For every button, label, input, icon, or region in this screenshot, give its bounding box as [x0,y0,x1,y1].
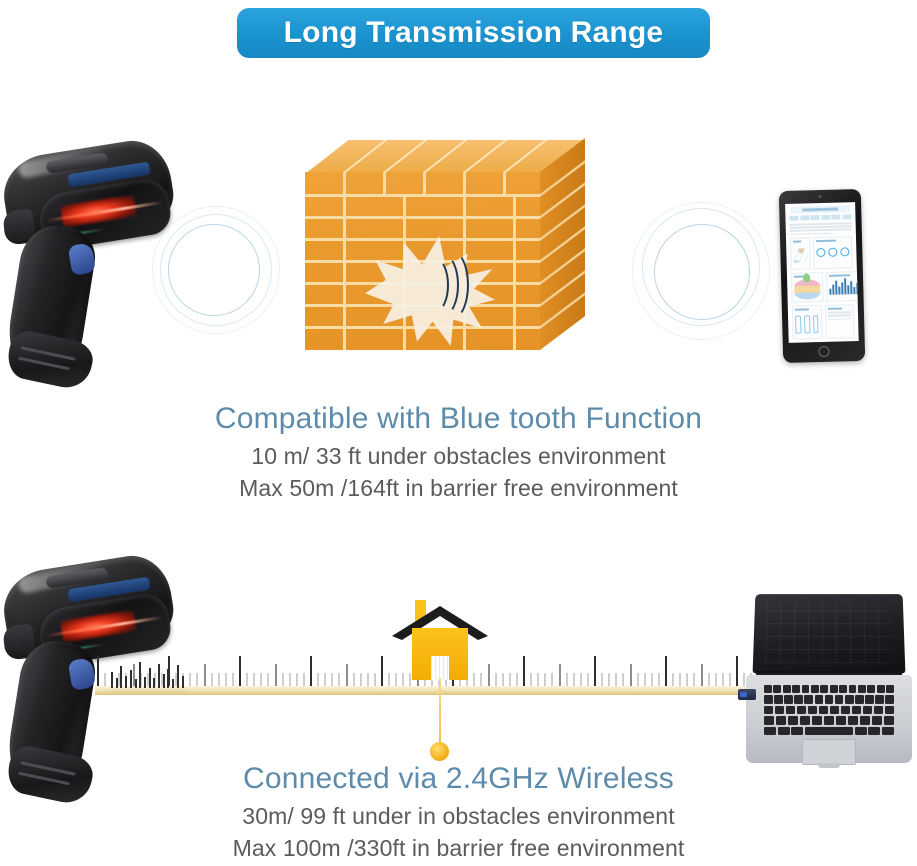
keyboard-row [764,706,894,714]
brick-mortar-col [503,172,506,194]
ruler-minor-tick [353,673,355,686]
ruler-minor-tick [544,673,546,686]
ruler-minor-tick [367,673,369,686]
barcode-bar [116,678,118,688]
barcode-bar [139,662,141,688]
ruler-minor-tick [658,673,660,686]
brick-mortar-col [513,238,516,260]
tablet-nav-item [811,215,820,220]
brick-mortar-col [513,326,516,350]
brick-mortar-col [513,260,516,282]
tablet-nav-item [821,215,830,220]
wireless-line-2: Max 100m /330ft in barrier free environm… [0,833,917,865]
ruler-minor-tick [622,673,624,686]
barcode-bar [158,664,160,688]
ruler-minor-tick [516,673,518,686]
ruler-major-tick [523,656,525,686]
ruler-minor-tick [225,673,227,686]
tablet-screen [785,202,859,343]
brick-mortar-row [305,260,540,263]
barcode-base [110,688,188,692]
ruler-major-tick [594,656,596,686]
bluetooth-text-block: Compatible with Blue tooth Function 10 m… [0,402,917,504]
laptop-icon [746,593,912,773]
ruler-minor-tick [104,673,106,686]
ruler-minor-tick [218,673,220,686]
brick-mortar-col [463,216,466,238]
brick-mortar-col [403,216,406,238]
barcode-bar [120,666,122,688]
barcode-bar [125,676,127,688]
tablet-metric-card [813,236,853,269]
laptop-lid-texture [765,602,893,663]
ruler-minor-tick [196,673,198,686]
brick-mortar-row [305,194,540,197]
barcode-bar [111,672,113,688]
bluetooth-headline: Compatible with Blue tooth Function [0,402,917,435]
barcode-bar [163,674,165,688]
brick-mortar-col [343,238,346,260]
brick-mortar-row [305,238,540,241]
tablet-flow-card [792,305,822,340]
wireless-headline: Connected via 2.4GHz Wireless [0,762,917,795]
ruler-major-tick [239,656,241,686]
ruler-minor-tick [289,673,291,686]
ruler-mid-tick [204,664,206,686]
tablet-card-row [790,236,853,270]
house-door [431,656,449,680]
tablet-card-row [792,304,855,340]
wall-front-face [305,172,540,350]
signal-arc-3 [435,250,469,320]
ruler-minor-tick [296,673,298,686]
page-title: Long Transmission Range [284,16,664,50]
ruler-minor-tick [608,673,610,686]
ruler-minor-tick [573,673,575,686]
house-pointer-dot [430,742,449,761]
ruler-minor-tick [729,673,731,686]
brick-mortar-col [513,194,516,216]
brick-wall-icon [305,140,585,350]
ruler-major-tick [665,656,667,686]
ruler-minor-tick [495,673,497,686]
signal-waves-icon-left [152,206,282,336]
ruler-minor-tick [722,673,724,686]
infographic-canvas: Long Transmission Range [0,0,917,866]
tablet-chart-wave [793,249,807,263]
tablet-flow-diagram [795,312,819,337]
ruler-minor-tick [637,673,639,686]
wall-top-joint [421,140,467,174]
barcode-bar [167,669,169,688]
barcode-bar [130,670,132,688]
brick-mortar-col [513,304,516,326]
tablet-nav-item [842,214,851,219]
tablet-nav-bar [789,214,851,221]
tablet-pie-card [791,272,824,303]
tablet-camera [818,195,821,198]
ruler-minor-tick [530,673,532,686]
brick-mortar-col [343,304,346,326]
brick-mortar-col [513,282,516,304]
keyboard-row [764,716,894,724]
brick-mortar-col [403,326,406,350]
tablet-metric-circle [840,247,849,256]
barcode-bar [144,677,146,688]
house-icon [390,600,490,680]
brick-mortar-col [403,194,406,216]
tablet-bar-chart [829,278,859,295]
tablet-paragraph [790,222,852,235]
barcode-bar [135,679,137,688]
wall-top-joint [501,140,547,174]
tablet-page-title [790,205,850,214]
brick-mortar-col [343,194,346,216]
barcode-bar [182,676,184,688]
ruler-major-tick [381,656,383,686]
ruler-minor-tick [651,673,653,686]
ruler-minor-tick [232,673,234,686]
barcode-bar [153,678,155,688]
ruler-minor-tick [708,673,710,686]
ruler-minor-tick [189,673,191,686]
barcode-bar [172,679,174,688]
ruler-minor-tick [587,673,589,686]
ruler-minor-tick [615,673,617,686]
brick-mortar-col [383,172,386,194]
tablet-home-button [818,346,829,357]
usb-dongle-icon [738,689,756,700]
tablet-text-card [824,304,854,339]
ruler-minor-tick [644,673,646,686]
tablet-chart-card [790,237,811,270]
page-title-banner: Long Transmission Range [237,8,710,58]
wall-top-joint [381,140,427,174]
tablet-nav-item [789,216,798,221]
keyboard-row [764,695,894,703]
brick-mortar-col [343,260,346,282]
ruler-minor-tick [260,673,262,686]
tablet-nav-item [832,214,841,219]
tablet-circle-metrics [816,243,849,261]
ruler-minor-tick [317,673,319,686]
tablet-metric-circle [828,248,837,257]
ruler-mid-tick [275,664,277,686]
wireless-line-1: 30m/ 99 ft under in obstacles environmen… [0,801,917,833]
ruler-minor-tick [551,673,553,686]
tablet-card-row [791,271,854,303]
ruler-minor-tick [360,673,362,686]
ruler-minor-tick [211,673,213,686]
ruler-base [95,686,757,695]
ruler-minor-tick [282,673,284,686]
ruler-minor-tick [338,673,340,686]
ruler-minor-tick [324,673,326,686]
ruler-minor-tick [374,673,376,686]
wall-top-face [305,140,584,174]
signal-ring-inner [654,224,750,320]
laptop-lid [753,594,906,673]
signal-ring-inner [168,224,260,316]
ruler-mid-tick [630,664,632,686]
brick-mortar-row [305,216,540,219]
brick-mortar-col [343,282,346,304]
ruler-minor-tick [686,673,688,686]
ruler-minor-tick [246,673,248,686]
house-pointer-line [439,678,441,746]
wall-top-joint [341,140,387,174]
wall-top-joint [461,140,507,174]
barcode-icon [110,660,188,692]
ruler-minor-tick [715,673,717,686]
tablet-icon [779,189,865,363]
bluetooth-line-1: 10 m/ 33 ft under obstacles environment [0,441,917,473]
tablet-bar-card [826,271,859,302]
ruler-minor-tick [566,673,568,686]
wall-side-joint [540,160,585,196]
tablet-nav-item [800,215,809,220]
wireless-text-block: Connected via 2.4GHz Wireless 30m/ 99 ft… [0,762,917,864]
brick-mortar-col [343,326,346,350]
signal-waves-icon-right [632,202,772,342]
brick-mortar-col [463,172,466,194]
wall-side-face [540,138,585,350]
tablet-metric-circle [816,248,825,257]
brick-mortar-col [513,216,516,238]
keyboard-row [764,685,894,693]
brick-mortar-col [463,194,466,216]
bluetooth-line-2: Max 50m /164ft in barrier free environme… [0,473,917,505]
barcode-bar [149,668,151,688]
ruler-minor-tick [743,673,745,686]
laptop-keyboard [764,685,894,735]
ruler-minor-tick [502,673,504,686]
ruler-minor-tick [331,673,333,686]
ruler-minor-tick [267,673,269,686]
tablet-pie-chart [794,279,821,300]
ruler-mid-tick [701,664,703,686]
ruler-minor-tick [679,673,681,686]
ruler-major-tick [310,656,312,686]
brick-mortar-col [343,172,346,194]
ruler-minor-tick [672,673,674,686]
keyboard-row [764,727,894,735]
brick-mortar-col [343,216,346,238]
ruler-major-tick [97,656,99,686]
ruler-minor-tick [537,673,539,686]
ruler-mid-tick [346,664,348,686]
barcode-bar [177,665,179,688]
ruler-minor-tick [509,673,511,686]
tablet-paragraph [827,311,851,320]
ruler-mid-tick [559,664,561,686]
brick-mortar-col [423,172,426,194]
ruler-minor-tick [693,673,695,686]
ruler-minor-tick [580,673,582,686]
ruler-minor-tick [601,673,603,686]
ruler-major-tick [736,656,738,686]
tablet-line-chart [793,245,808,267]
brick-mortar-col [463,326,466,350]
ruler-minor-tick [303,673,305,686]
ruler-minor-tick [253,673,255,686]
